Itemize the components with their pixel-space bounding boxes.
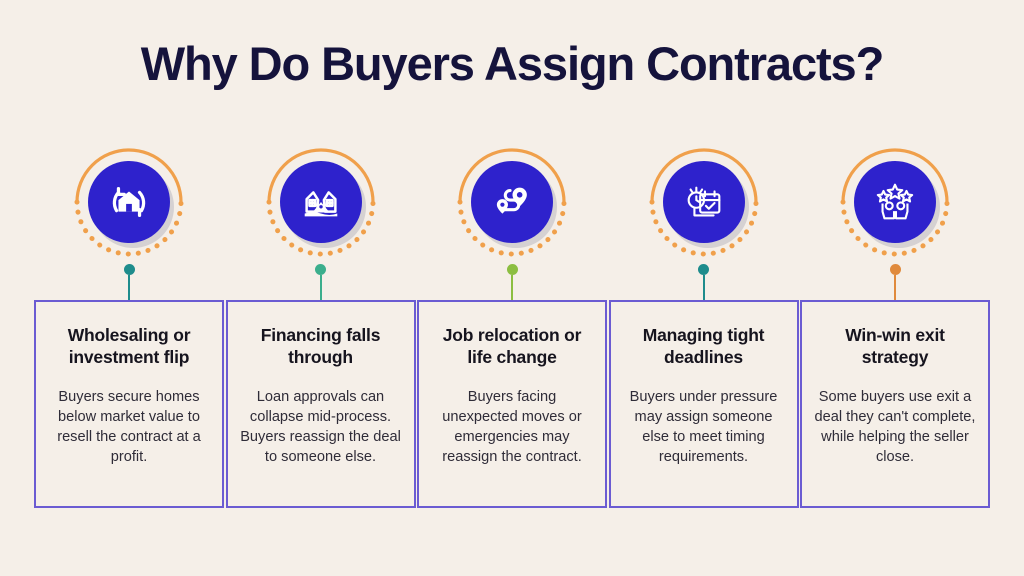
- connector-stem-2: [320, 275, 322, 300]
- reason-card-title-1: Wholesaling or investment flip: [48, 324, 210, 368]
- connector-2: [313, 264, 329, 300]
- connector-dot-1: [124, 264, 135, 275]
- connector-dot-2: [315, 264, 326, 275]
- reason-card-3[interactable]: Job relocation or life change Buyers fac…: [417, 300, 607, 508]
- reason-column-4: Managing tight deadlines Buyers under pr…: [609, 140, 799, 540]
- reason-card-4[interactable]: Managing tight deadlines Buyers under pr…: [609, 300, 799, 508]
- connector-dot-3: [507, 264, 518, 275]
- connector-stem-3: [511, 275, 513, 300]
- icon-badge-3: [450, 140, 574, 264]
- broken-house-icon: [298, 179, 344, 225]
- route-location-pins-icon: [489, 179, 535, 225]
- connector-stem-4: [703, 275, 705, 300]
- reason-card-title-3: Job relocation or life change: [431, 324, 593, 368]
- icon-badge-5: [833, 140, 957, 264]
- reason-card-body-3: Buyers facing unexpected moves or emerge…: [431, 388, 593, 467]
- connector-5: [887, 264, 903, 300]
- connector-dot-4: [698, 264, 709, 275]
- icon-circle-1: [88, 161, 170, 243]
- reason-card-title-4: Managing tight deadlines: [623, 324, 785, 368]
- people-stars-winwin-icon: [872, 179, 918, 225]
- reason-card-body-4: Buyers under pressure may assign someone…: [623, 388, 785, 467]
- clock-calendar-deadline-icon: [681, 179, 727, 225]
- reason-card-body-5: Some buyers use exit a deal they can't c…: [814, 388, 976, 467]
- reason-card-title-5: Win-win exit strategy: [814, 324, 976, 368]
- reason-card-2[interactable]: Financing falls through Loan approvals c…: [226, 300, 416, 508]
- icon-circle-3: [471, 161, 553, 243]
- connector-4: [696, 264, 712, 300]
- reason-card-body-2: Loan approvals can collapse mid-process.…: [240, 388, 402, 467]
- icon-circle-2: [280, 161, 362, 243]
- connector-3: [504, 264, 520, 300]
- page-title: Why Do Buyers Assign Contracts?: [0, 38, 1024, 90]
- infographic-canvas: Why Do Buyers Assign Contracts?: [0, 0, 1024, 576]
- reasons-column-group: Wholesaling or investment flip Buyers se…: [34, 140, 990, 540]
- reason-column-1: Wholesaling or investment flip Buyers se…: [34, 140, 224, 540]
- icon-circle-5: [854, 161, 936, 243]
- reason-column-2: Financing falls through Loan approvals c…: [226, 140, 416, 540]
- reason-card-5[interactable]: Win-win exit strategy Some buyers use ex…: [800, 300, 990, 508]
- connector-1: [121, 264, 137, 300]
- reason-column-3: Job relocation or life change Buyers fac…: [417, 140, 607, 540]
- reason-column-5: Win-win exit strategy Some buyers use ex…: [800, 140, 990, 540]
- icon-badge-2: [259, 140, 383, 264]
- house-refresh-icon: [106, 179, 152, 225]
- connector-dot-5: [890, 264, 901, 275]
- icon-badge-1: [67, 140, 191, 264]
- icon-circle-4: [663, 161, 745, 243]
- connector-stem-1: [128, 275, 130, 300]
- icon-badge-4: [642, 140, 766, 264]
- reason-card-title-2: Financing falls through: [240, 324, 402, 368]
- reason-card-1[interactable]: Wholesaling or investment flip Buyers se…: [34, 300, 224, 508]
- connector-stem-5: [894, 275, 896, 300]
- reason-card-body-1: Buyers secure homes below market value t…: [48, 388, 210, 467]
